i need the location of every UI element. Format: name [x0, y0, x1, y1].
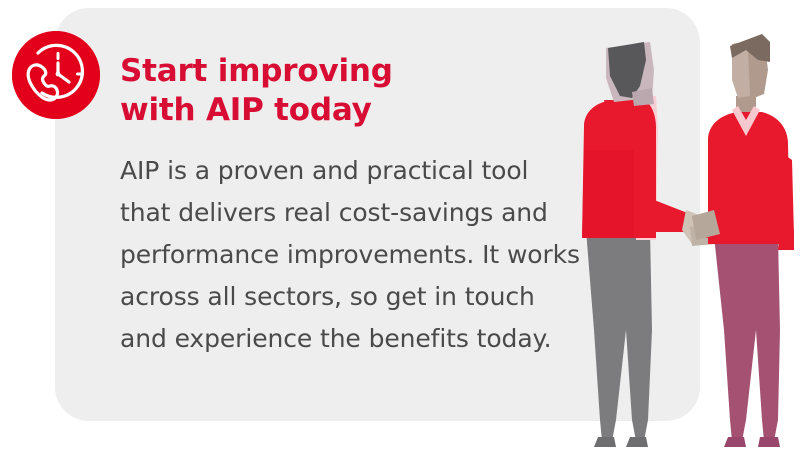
- body-line-1: AIP is a proven and practical tool: [120, 150, 550, 192]
- headline-line-2: with AIP today: [120, 91, 550, 130]
- body-line-3: performance improvements. It works: [120, 234, 550, 276]
- body-copy: AIP is a proven and practical tool that …: [120, 150, 550, 360]
- cta-banner: Start improving with AIP today AIP is a …: [0, 0, 800, 451]
- text-block: Start improving with AIP today AIP is a …: [120, 52, 550, 360]
- page-title: Start improving with AIP today: [120, 52, 550, 130]
- figure-left-back-view: [582, 42, 716, 447]
- body-line-4: across all sectors, so get in touch: [120, 276, 550, 318]
- body-line-2: that delivers real cost-savings and: [120, 192, 550, 234]
- two-people-handshake-illustration: [540, 0, 800, 451]
- headline-line-1: Start improving: [120, 52, 550, 91]
- body-line-5: and experience the benefits today.: [120, 318, 550, 360]
- phone-clock-icon: [12, 31, 100, 119]
